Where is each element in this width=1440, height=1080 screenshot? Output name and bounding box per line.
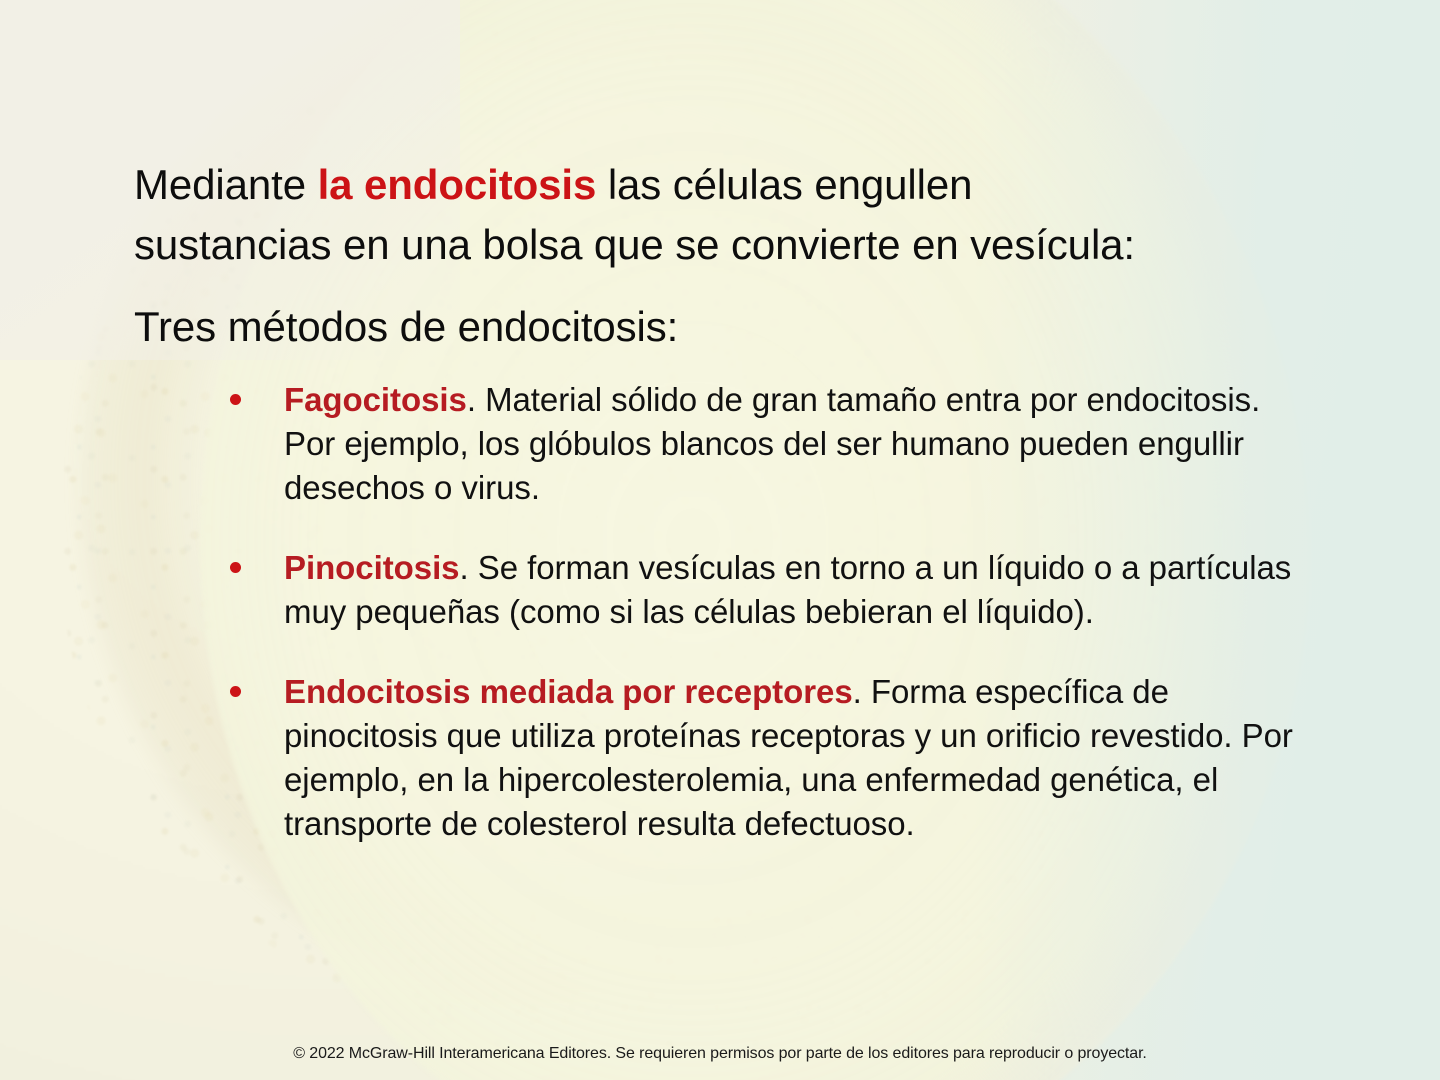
bullet-term: Pinocitosis xyxy=(284,549,460,586)
bullet-list: Fagocitosis. Material sólido de gran tam… xyxy=(226,378,1306,846)
subheading: Tres métodos de endocitosis: xyxy=(134,297,1324,357)
lead-text-line2: sustancias en una bolsa que se convierte… xyxy=(134,221,1135,268)
list-item: Endocitosis mediada por receptores. Form… xyxy=(226,670,1306,846)
lead-paragraph: Mediante la endocitosis las células engu… xyxy=(134,155,1324,275)
bullet-dot-icon xyxy=(230,394,241,405)
list-item: Pinocitosis. Se forman vesículas en torn… xyxy=(226,546,1306,634)
presentation-slide: Mediante la endocitosis las células engu… xyxy=(0,0,1440,1080)
bullet-dot-icon xyxy=(230,686,241,697)
slide-content: Mediante la endocitosis las células engu… xyxy=(0,0,1440,1080)
lead-accent-term: la endocitosis xyxy=(318,161,597,208)
list-item: Fagocitosis. Material sólido de gran tam… xyxy=(226,378,1306,510)
bullet-term: Endocitosis mediada por receptores xyxy=(284,673,853,710)
copyright-footer: © 2022 McGraw-Hill Interamericana Editor… xyxy=(0,1043,1440,1065)
bullet-term: Fagocitosis xyxy=(284,381,467,418)
lead-text-pre: Mediante xyxy=(134,161,318,208)
bullet-dot-icon xyxy=(230,562,241,573)
lead-text-post: las células engullen xyxy=(596,161,972,208)
